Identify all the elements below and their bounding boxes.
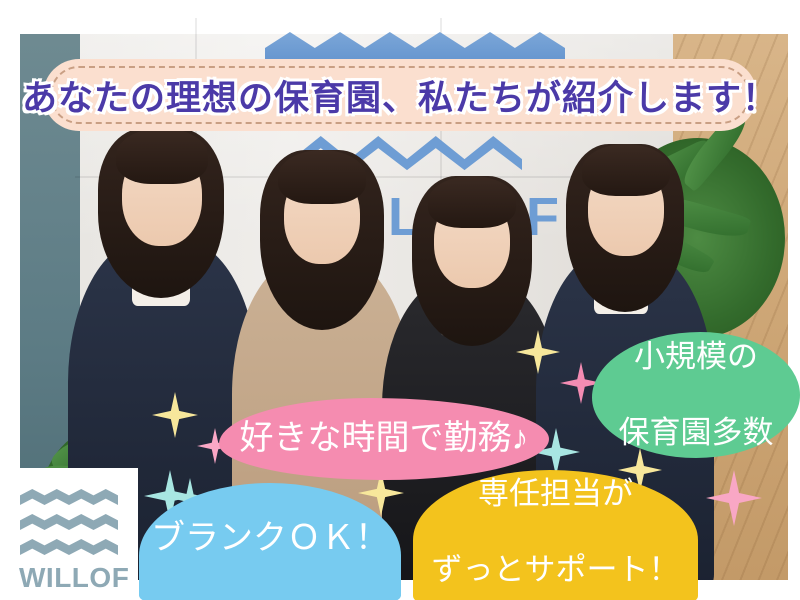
willof-logo-card: WILLOF	[0, 468, 138, 600]
bubble-blank-ok: ブランクＯＫ！	[139, 483, 401, 600]
willof-wordmark: WILLOF	[19, 562, 129, 594]
person-1-hair	[116, 128, 208, 184]
advertisement-banner: WILLOF	[0, 0, 800, 600]
bubble-blank-ok-line1: ブランクＯＫ！	[151, 518, 389, 559]
person-4-hair	[582, 144, 670, 196]
willof-zigzag-icon	[20, 489, 118, 505]
bubble-dedicated-support-line2: ずっとサポート！	[432, 551, 680, 589]
person-3-hair	[428, 176, 516, 228]
ceiling-strip	[20, 18, 788, 34]
willof-zigzag-icon	[20, 539, 118, 555]
bubble-dedicated-support: 専任担当が ずっとサポート！	[413, 470, 698, 600]
headline-text: あなたの理想の保育園、私たちが紹介します！	[43, 59, 757, 131]
headline-banner: あなたの理想の保育園、私たちが紹介します！	[43, 59, 757, 131]
bubble-small-nursery-line1: 小規模の	[619, 338, 774, 376]
willof-zigzag-icon	[20, 514, 118, 530]
person-2-hair	[278, 150, 366, 204]
bubble-dedicated-support-line1: 専任担当が	[432, 475, 680, 513]
